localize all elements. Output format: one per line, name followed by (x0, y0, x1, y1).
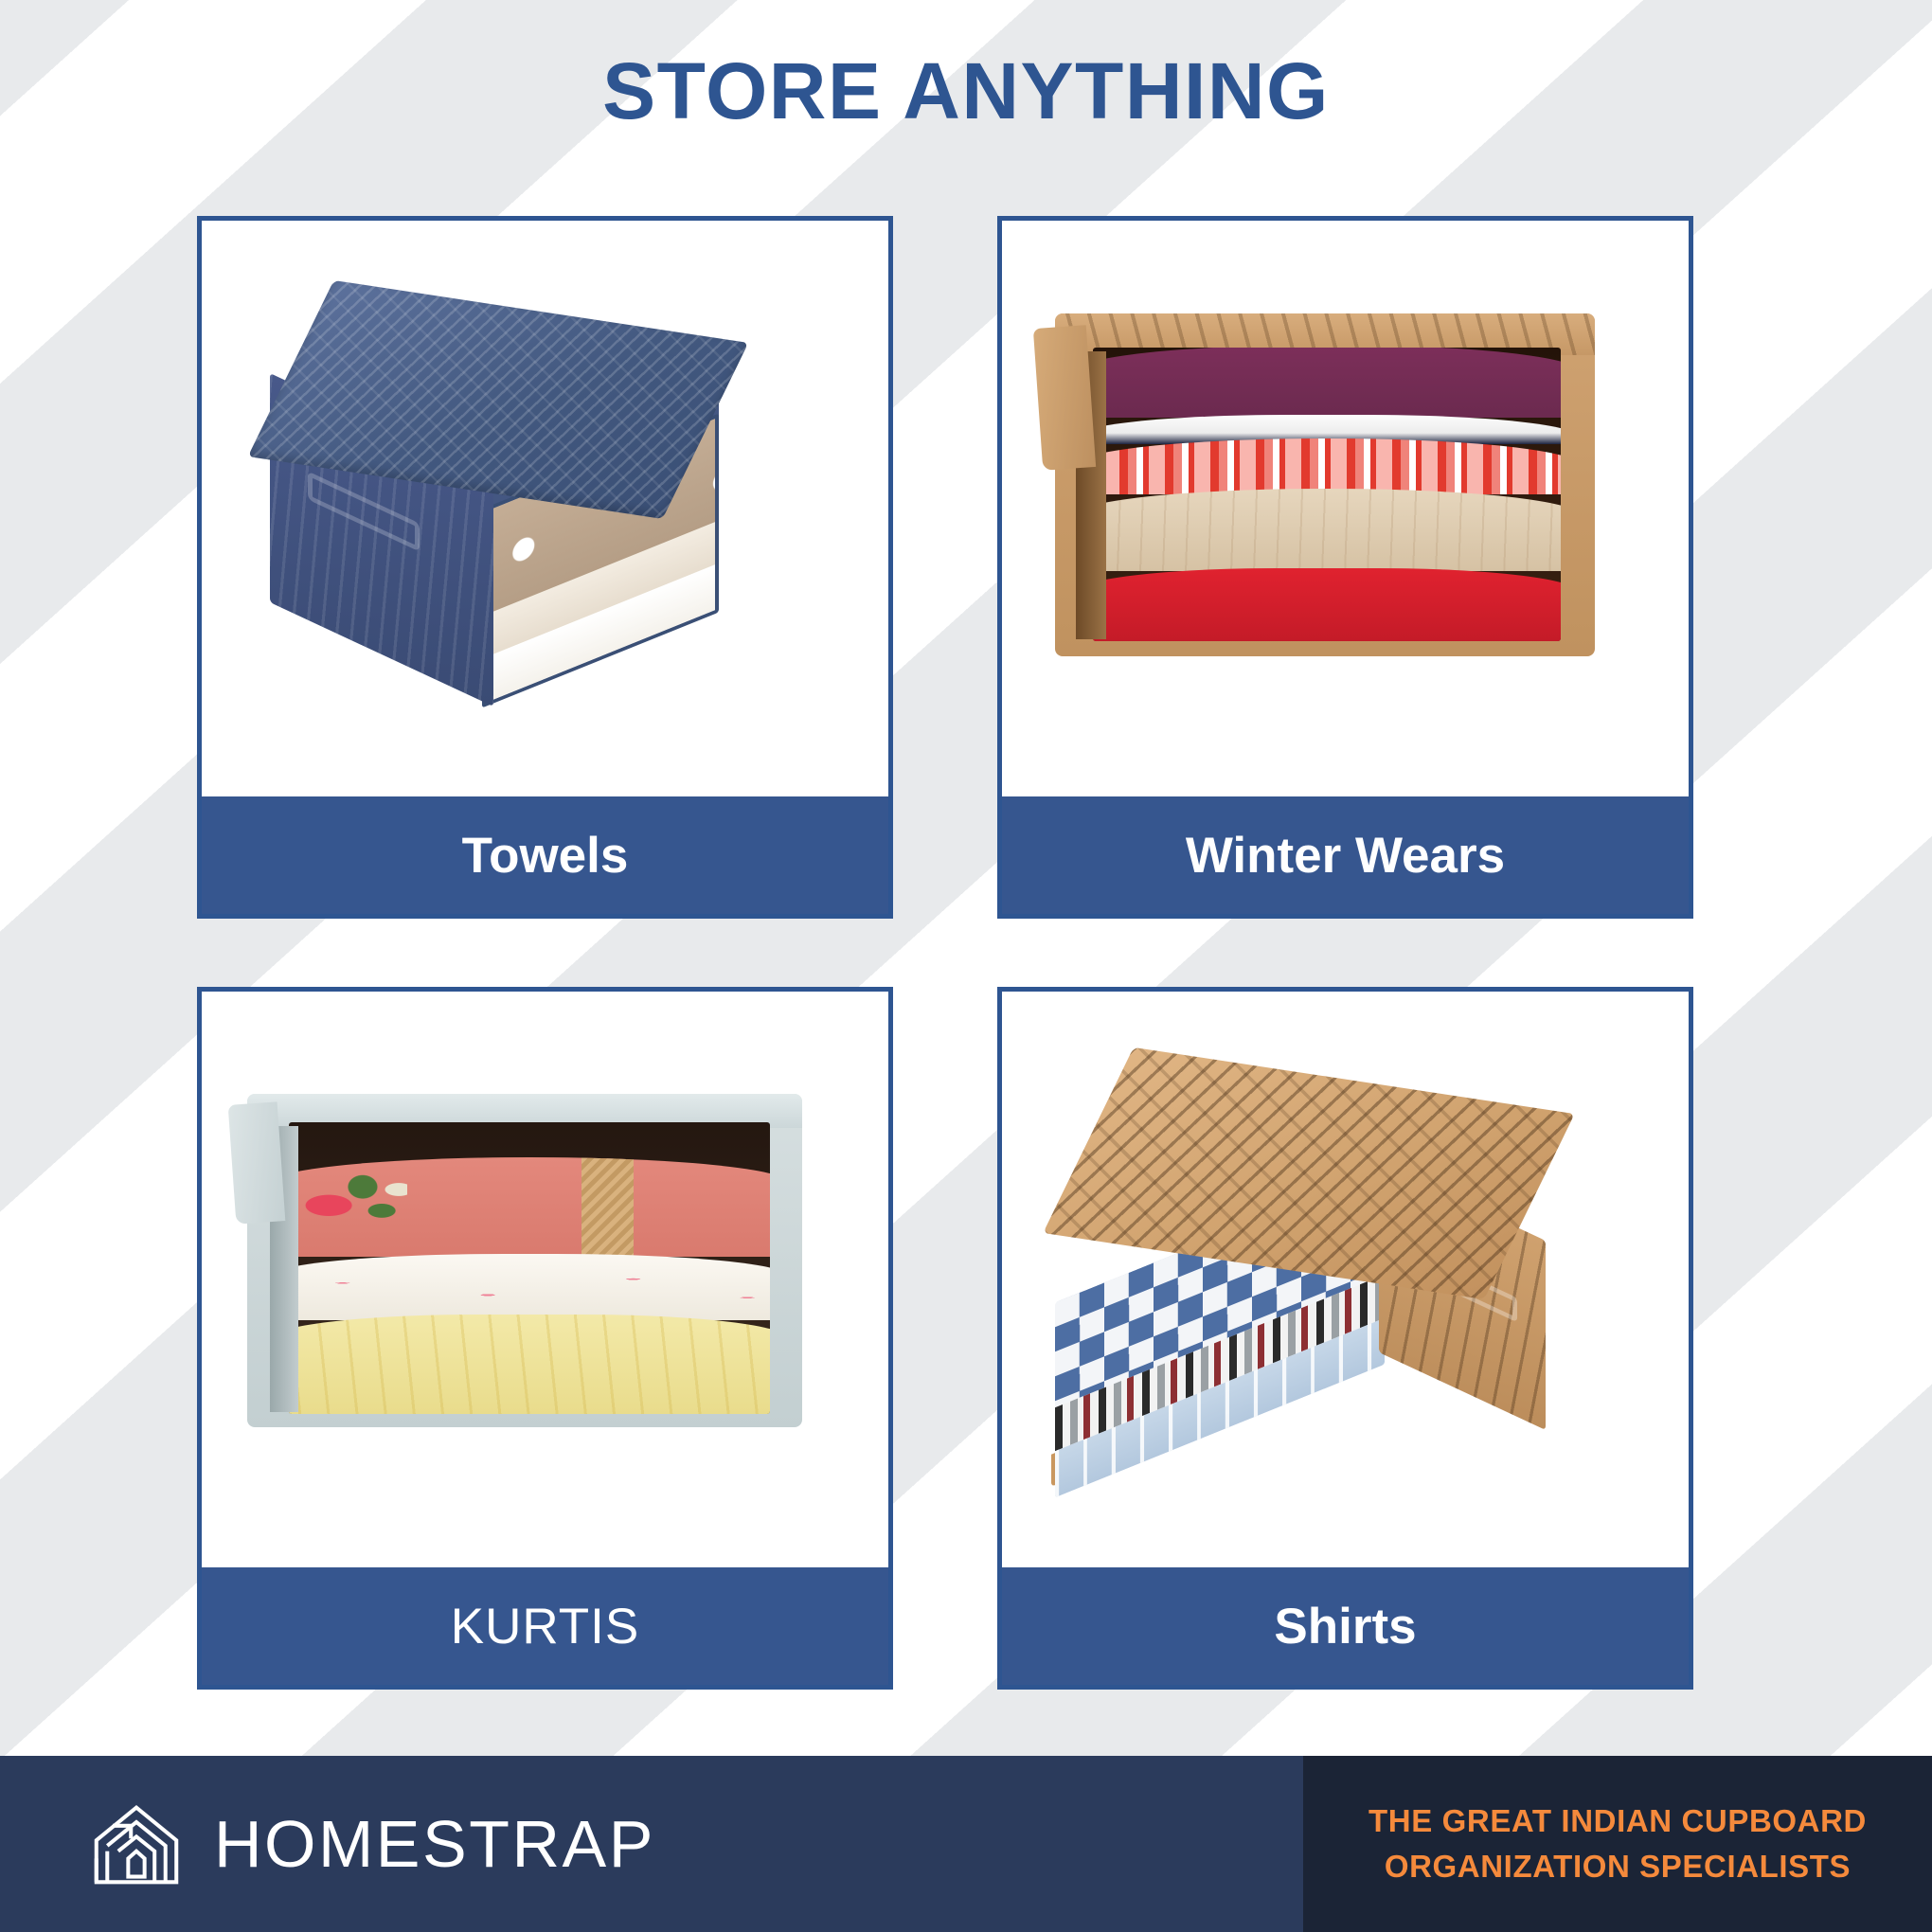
winter-wears-box-illustration (1002, 221, 1689, 796)
infographic-page: STORE ANYTHING (0, 0, 1932, 1932)
garment-red-plaid (1093, 438, 1561, 494)
tan-printed-storage-box (1046, 1081, 1576, 1463)
brand-name: HOMESTRAP (214, 1811, 655, 1877)
page-title: STORE ANYTHING (0, 49, 1932, 133)
product-photo-towels (202, 221, 888, 796)
box-interior (289, 1122, 770, 1414)
navy-storage-box (259, 312, 751, 690)
tagline-block: THE GREAT INDIAN CUPBOARD ORGANIZATION S… (1303, 1756, 1932, 1932)
garment-cream-cable-knit (1093, 489, 1561, 571)
kurtis-box-illustration (202, 992, 888, 1567)
box-open-flap (228, 1101, 286, 1224)
garment-white-motif-kurti (289, 1254, 770, 1321)
garment-yellow-kurti (289, 1315, 770, 1414)
towels-box-illustration (202, 221, 888, 796)
grey-open-storage-box (247, 1094, 802, 1427)
tagline-line-1: THE GREAT INDIAN CUPBOARD (1368, 1803, 1867, 1839)
card-label-winter-wears: Winter Wears (1002, 796, 1689, 914)
gold-band (581, 1157, 634, 1257)
garment-red-sweater (1093, 568, 1561, 642)
product-photo-winter-wears (1002, 221, 1689, 796)
tagline-line-2: ORGANIZATION SPECIALISTS (1385, 1849, 1851, 1885)
shirts-box-illustration (1002, 992, 1689, 1567)
box-lid (1043, 1047, 1574, 1299)
card-label-towels: Towels (202, 796, 888, 914)
product-card-kurtis[interactable]: KURTIS (197, 987, 893, 1690)
header: STORE ANYTHING (0, 49, 1932, 133)
tan-open-storage-box (1055, 313, 1595, 656)
card-label-shirts: Shirts (1002, 1567, 1689, 1685)
product-card-towels[interactable]: Towels (197, 216, 893, 919)
product-photo-shirts (1002, 992, 1689, 1567)
garment-purple-sweater (1093, 348, 1561, 418)
product-card-winter-wears[interactable]: Winter Wears (997, 216, 1693, 919)
footer: HOMESTRAP THE GREAT INDIAN CUPBOARD ORGA… (0, 1756, 1932, 1932)
brand-block: HOMESTRAP (0, 1756, 1303, 1932)
product-photo-kurtis (202, 992, 888, 1567)
card-label-kurtis: KURTIS (202, 1567, 888, 1685)
box-interior (1093, 348, 1561, 641)
floral-embroidery (301, 1170, 407, 1236)
product-card-grid: Towels (197, 216, 1735, 1690)
garment-pink-embroidered-kurti (289, 1157, 770, 1257)
product-card-shirts[interactable]: Shirts (997, 987, 1693, 1690)
box-open-flap (1033, 325, 1096, 471)
house-outline-icon (91, 1798, 182, 1889)
